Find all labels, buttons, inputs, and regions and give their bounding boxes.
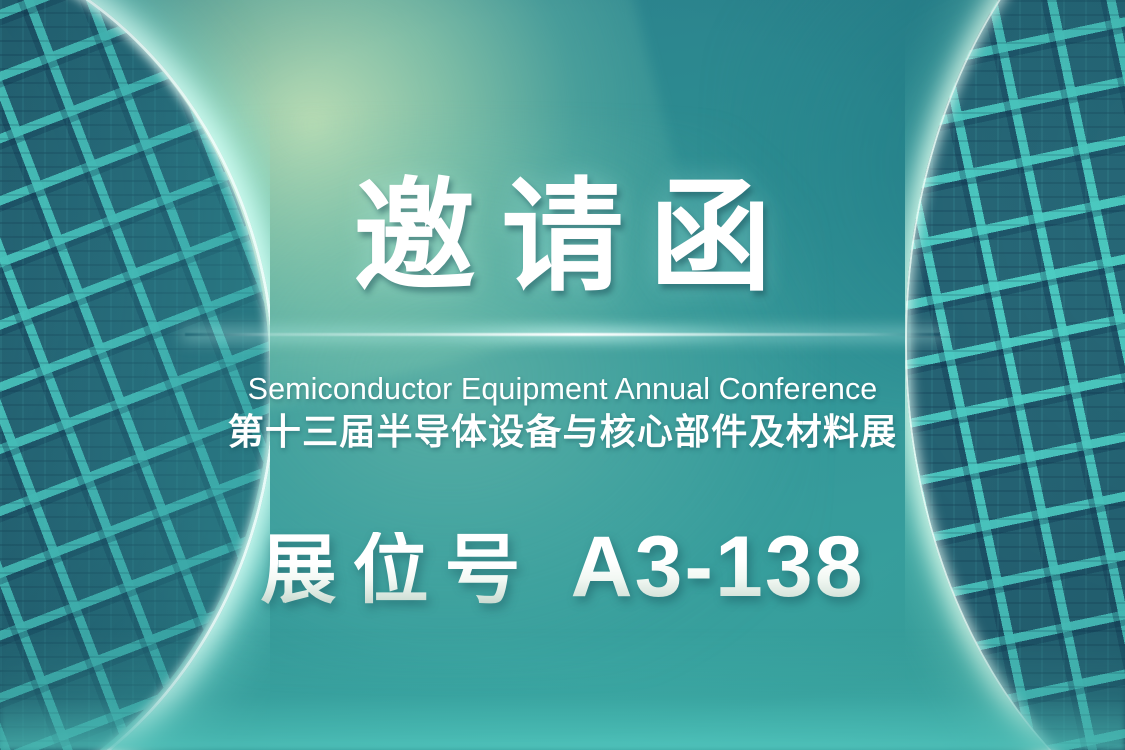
invitation-poster: 邀请函 Semiconductor Equipment Annual Confe… (0, 0, 1125, 750)
subtitle-block: Semiconductor Equipment Annual Conferenc… (0, 372, 1125, 452)
subtitle-english: Semiconductor Equipment Annual Conferenc… (0, 372, 1125, 406)
page-title: 邀请函 (0, 176, 1125, 298)
subtitle-chinese: 第十三届半导体设备与核心部件及材料展 (0, 411, 1125, 452)
booth-row: 展位号A3-138 (0, 524, 1125, 612)
title-divider (185, 333, 940, 336)
booth-number-value: A3-138 (570, 524, 864, 612)
poster-content: 邀请函 Semiconductor Equipment Annual Confe… (0, 0, 1125, 750)
booth-number-label: 展位号 (260, 532, 536, 610)
